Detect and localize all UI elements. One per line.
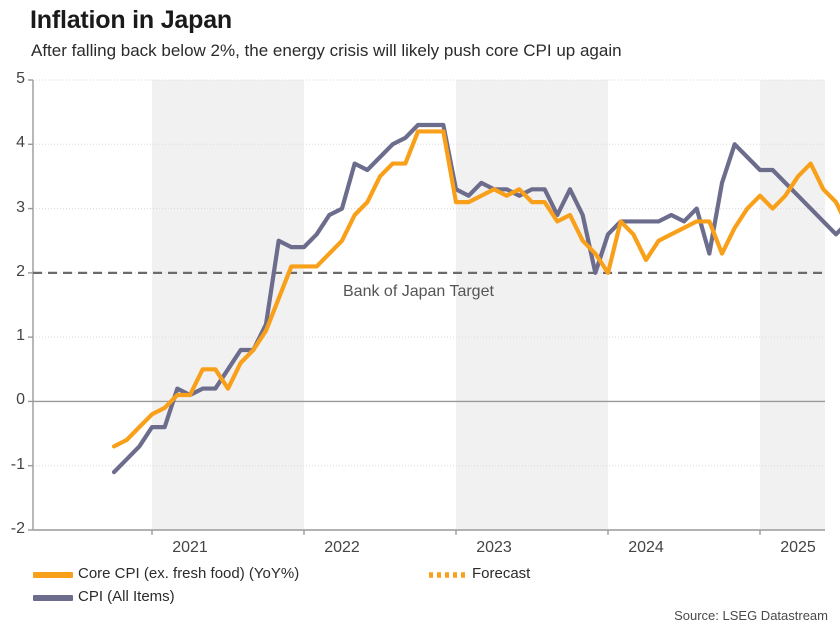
y-axis-tick-label: -1 xyxy=(1,456,25,474)
x-axis-tick-label: 2021 xyxy=(150,539,230,557)
legend-label-forecast: Forecast xyxy=(472,565,530,582)
y-axis-tick-label: -2 xyxy=(1,520,25,538)
source-attribution: Source: LSEG Datastream xyxy=(674,608,828,623)
y-axis-tick-label: 3 xyxy=(1,199,25,217)
y-axis-tick-label: 0 xyxy=(1,391,25,409)
chart-plot xyxy=(0,0,840,629)
y-axis-tick-label: 5 xyxy=(1,70,25,88)
chart-container: Inflation in Japan After falling back be… xyxy=(0,0,840,629)
legend-swatch-core xyxy=(33,572,73,578)
y-axis-tick-label: 1 xyxy=(1,327,25,345)
year-shading-bands xyxy=(152,80,825,530)
legend-label-core: Core CPI (ex. fresh food) (YoY%) xyxy=(78,565,299,582)
x-axis-tick-label: 2023 xyxy=(454,539,534,557)
legend-swatch-cpi xyxy=(33,595,73,601)
boj-target-label: Bank of Japan Target xyxy=(343,283,494,301)
legend-label-cpi: CPI (All Items) xyxy=(78,588,175,605)
x-axis-tick-label: 2025 xyxy=(758,539,838,557)
axis-lines xyxy=(33,80,825,530)
y-axis-tick-label: 4 xyxy=(1,134,25,152)
x-axis-tick-label: 2022 xyxy=(302,539,382,557)
y-axis-tick-label: 2 xyxy=(1,263,25,281)
axis-ticks xyxy=(28,80,760,535)
x-axis-tick-label: 2024 xyxy=(606,539,686,557)
legend-swatch-forecast xyxy=(428,572,468,578)
gridlines xyxy=(33,80,825,530)
